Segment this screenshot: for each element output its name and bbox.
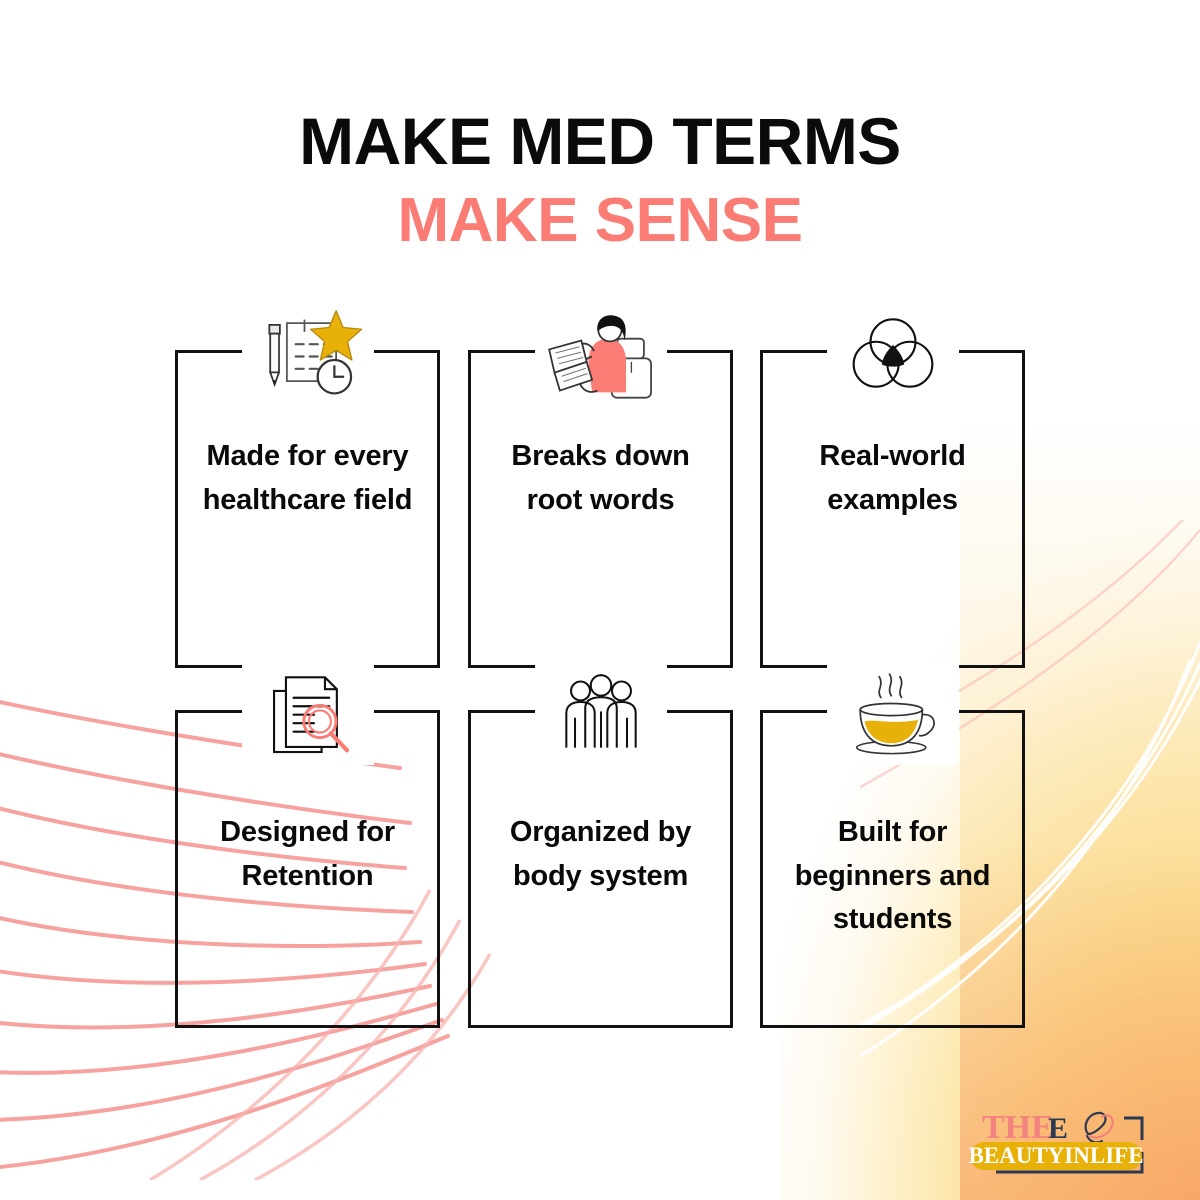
venn-diagram-icon (827, 301, 959, 405)
logo-the-text: THE (982, 1109, 1054, 1146)
documents-magnifier-icon (242, 661, 374, 765)
card-label: Made for every healthcare field (203, 435, 413, 522)
card-label: Organized by body system (496, 811, 706, 898)
card-label: Built for beginners and students (788, 811, 998, 942)
feature-card-grid: Made for every healthcare field (175, 350, 1025, 1028)
butterfly-icon (1086, 1113, 1113, 1142)
card-label: Breaks down root words (496, 435, 706, 522)
poster-title: MAKE MED TERMS MAKE SENSE (0, 108, 1200, 252)
feature-card-designed-for-retention[interactable]: Designed for Retention (175, 710, 440, 1028)
checklist-star-clock-icon (242, 301, 374, 405)
title-line-1: MAKE MED TERMS (0, 108, 1200, 174)
person-reading-book-icon (535, 301, 667, 405)
card-label: Designed for Retention (203, 811, 413, 898)
logo-brand-text: BEAUTYINLIFE (968, 1143, 1143, 1168)
title-line-2: MAKE SENSE (0, 190, 1200, 252)
poster-canvas: MAKE MED TERMS MAKE SENSE (0, 0, 1200, 1200)
feature-card-made-for-every-healthcare-field[interactable]: Made for every healthcare field (175, 350, 440, 668)
card-row-1: Made for every healthcare field (175, 350, 1025, 668)
feature-card-breaks-down-root-words[interactable]: Breaks down root words (468, 350, 733, 668)
three-people-group-icon (535, 661, 667, 765)
card-label: Real-world examples (788, 435, 998, 522)
coffee-cup-icon (827, 661, 959, 765)
card-row-2: Designed for Retention (175, 710, 1025, 1028)
feature-card-organized-by-body-system[interactable]: Organized by body system (468, 710, 733, 1028)
feature-card-built-for-beginners-and-students[interactable]: Built for beginners and students (760, 710, 1025, 1028)
logo-e-text: E (1048, 1112, 1068, 1145)
brand-logo[interactable]: THE E BEAUTYINLIFE (956, 1100, 1184, 1186)
feature-card-real-world-examples[interactable]: Real-world examples (760, 350, 1025, 668)
